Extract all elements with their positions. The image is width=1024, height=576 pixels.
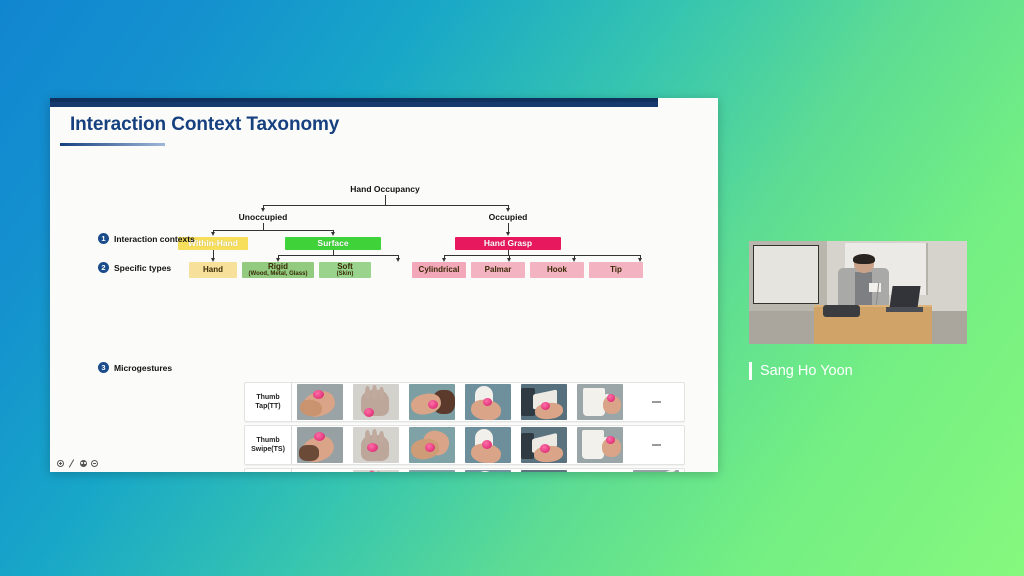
legend-item-specific-types: 2 Specific types xyxy=(98,262,171,273)
photo-thumb-swipe-soft xyxy=(409,427,455,463)
type-chip-palmar[interactable]: Palmar xyxy=(471,262,525,278)
legend-item-microgestures: 3 Microgestures xyxy=(98,362,172,373)
type-chip-label: Cylindrical xyxy=(419,266,460,274)
type-chip-label: Rigid xyxy=(268,263,288,271)
row-label-line1: Thumb xyxy=(256,393,279,402)
tree-connector xyxy=(213,230,333,231)
cell-thumb-swipe-hook[interactable] xyxy=(574,426,626,464)
photo-thumb-swipe-palmar xyxy=(521,427,567,463)
tree-arrow xyxy=(211,232,215,236)
type-chip-tip[interactable]: Tip xyxy=(589,262,643,278)
photo-index-tap-tip xyxy=(633,470,679,472)
cell-thumb-tap-soft[interactable] xyxy=(406,383,458,421)
photo-index-tap-soft xyxy=(409,470,455,472)
bag-on-podium xyxy=(823,305,860,317)
type-chip-label: Hook xyxy=(547,266,567,274)
type-chip-hand[interactable]: Hand xyxy=(189,262,237,278)
tree-arrow xyxy=(331,232,335,236)
row-label-line2: Swipe(TS) xyxy=(251,445,285,454)
context-chip-label: Hand Grasp xyxy=(484,239,532,248)
presenter-hair xyxy=(853,254,875,264)
row-label-thumb-swipe: Thumb Swipe(TS) xyxy=(245,426,292,464)
type-chip-label: Tip xyxy=(610,266,622,274)
photo-index-tap-rigid xyxy=(353,470,399,472)
laptop-base xyxy=(886,307,923,312)
speaker-name: Sang Ho Yoon xyxy=(760,363,853,379)
legend-number: 3 xyxy=(98,362,109,373)
tree-arrow xyxy=(396,258,400,262)
cell-index-tap-cylindrical[interactable] xyxy=(462,469,514,472)
cell-thumb-swipe-rigid[interactable] xyxy=(350,426,402,464)
type-chip-soft[interactable]: Soft (Skin) xyxy=(319,262,371,278)
row-label-thumb-tap: Thumb Tap(TT) xyxy=(245,383,292,421)
photo-index-tap-cylindrical xyxy=(465,470,511,472)
table-row: Thumb Tap(TT) xyxy=(244,382,685,422)
legend-number: 2 xyxy=(98,262,109,273)
presenter-badge xyxy=(869,283,881,292)
context-chip-label: Within-Hand xyxy=(188,239,238,248)
context-chip-hand-grasp[interactable]: Hand Grasp xyxy=(455,237,561,250)
cell-index-tap-soft[interactable] xyxy=(406,469,458,472)
taxonomy-tree: Hand Occupancy Unoccupied Occupied Withi… xyxy=(50,98,718,288)
photo-thumb-tap-rigid xyxy=(353,384,399,420)
laptop xyxy=(889,286,921,309)
speaker-name-row: Sang Ho Yoon xyxy=(749,362,967,380)
table-row: Thumb Swipe(TS) xyxy=(244,425,685,465)
cell-thumb-tap-cylindrical[interactable] xyxy=(462,383,514,421)
slide-controls[interactable] xyxy=(57,459,98,467)
cell-thumb-tap-tip[interactable] xyxy=(630,383,682,421)
photo-thumb-swipe-hook xyxy=(577,427,623,463)
presenter-video[interactable] xyxy=(749,241,967,344)
legend-item-interaction-contexts: 1 Interaction contexts xyxy=(98,233,195,244)
legend-number: 1 xyxy=(98,233,109,244)
microgesture-matrix: Thumb Tap(TT) xyxy=(244,382,685,472)
photo-thumb-tap-palmar xyxy=(521,384,567,420)
tree-root-label: Hand Occupancy xyxy=(350,184,419,194)
tree-connector xyxy=(278,255,398,256)
projection-screen xyxy=(753,245,818,304)
cell-thumb-swipe-cylindrical[interactable] xyxy=(462,426,514,464)
legend-label: Microgestures xyxy=(114,363,172,373)
type-chip-hook[interactable]: Hook xyxy=(530,262,584,278)
empty-cell-dash xyxy=(652,401,661,403)
type-chip-label: Palmar xyxy=(485,266,512,274)
type-chip-sublabel: (Wood, Metal, Glass) xyxy=(249,271,308,277)
photo-thumb-swipe-cylindrical xyxy=(465,427,511,463)
fullscreen-icon[interactable] xyxy=(91,460,98,467)
cell-index-tap-hook[interactable] xyxy=(574,469,626,472)
cell-index-tap-rigid[interactable] xyxy=(350,469,402,472)
type-chip-sublabel: (Skin) xyxy=(337,271,354,277)
type-chip-label: Soft xyxy=(337,263,353,271)
pen-icon[interactable] xyxy=(68,459,76,467)
cell-index-tap-palmar[interactable] xyxy=(518,469,570,472)
more-options-icon[interactable] xyxy=(80,460,87,467)
tree-branch-occupied: Occupied xyxy=(489,212,528,222)
photo-thumb-tap-hand xyxy=(297,384,343,420)
photo-index-tap-palmar xyxy=(521,470,567,472)
tree-branch-unoccupied: Unoccupied xyxy=(239,212,288,222)
zoom-in-icon[interactable] xyxy=(57,460,64,467)
type-chip-rigid[interactable]: Rigid (Wood, Metal, Glass) xyxy=(242,262,314,278)
cell-thumb-swipe-soft[interactable] xyxy=(406,426,458,464)
tree-connector xyxy=(263,205,508,206)
tree-connector xyxy=(444,255,640,256)
cell-thumb-tap-palmar[interactable] xyxy=(518,383,570,421)
type-chip-cylindrical[interactable]: Cylindrical xyxy=(412,262,466,278)
empty-cell-dash xyxy=(652,444,661,446)
tree-connector xyxy=(263,223,264,230)
type-chip-label: Hand xyxy=(203,266,223,274)
speaker-panel: Sang Ho Yoon xyxy=(749,241,967,380)
cell-thumb-swipe-hand[interactable] xyxy=(294,426,346,464)
photo-thumb-tap-soft xyxy=(409,384,455,420)
tree-arrow xyxy=(506,232,510,236)
cell-index-tap-tip[interactable] xyxy=(630,469,682,472)
tree-connector xyxy=(385,195,386,205)
cell-thumb-tap-hook[interactable] xyxy=(574,383,626,421)
cell-thumb-swipe-tip[interactable] xyxy=(630,426,682,464)
cell-thumb-tap-hand[interactable] xyxy=(294,383,346,421)
row-label-index-tap: Index Tap(IT) xyxy=(245,469,292,472)
legend-label: Interaction contexts xyxy=(114,234,195,244)
cell-thumb-tap-rigid[interactable] xyxy=(350,383,402,421)
table-row: Index Tap(IT) xyxy=(244,468,685,472)
photo-thumb-tap-cylindrical xyxy=(465,384,511,420)
legend-label: Specific types xyxy=(114,263,171,273)
presentation-slide[interactable]: Interaction Context Taxonomy Hand Occupa… xyxy=(50,98,718,472)
cell-thumb-swipe-palmar[interactable] xyxy=(518,426,570,464)
name-accent-bar xyxy=(749,362,752,380)
context-chip-label: Surface xyxy=(317,239,348,248)
cell-index-tap-hand[interactable] xyxy=(294,469,346,472)
photo-thumb-tap-hook xyxy=(577,384,623,420)
photo-thumb-swipe-rigid xyxy=(353,427,399,463)
row-label-line2: Tap(TT) xyxy=(255,402,280,411)
row-label-line1: Thumb xyxy=(256,436,279,445)
photo-thumb-swipe-hand xyxy=(297,427,343,463)
context-chip-surface[interactable]: Surface xyxy=(285,237,381,250)
